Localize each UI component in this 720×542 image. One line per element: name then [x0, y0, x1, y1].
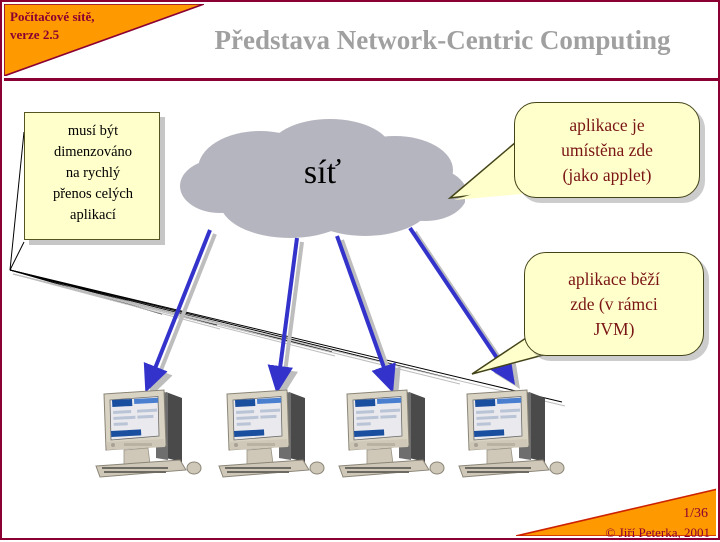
callout-jvm-line-3: JVM) [525, 317, 703, 342]
note-line-1: musí být [25, 121, 161, 142]
note-line-5: aplikací [25, 205, 161, 226]
callout-jvm-text: aplikace běží zde (v rámci JVM) [525, 253, 703, 355]
callout-jvm-line-2: zde (v rámci [525, 292, 703, 317]
desktop-computer-icon-2 [217, 384, 335, 484]
copyright-text: © Jiří Peterka, 2001 [606, 525, 710, 541]
computer-icon [217, 384, 335, 484]
callout-applet-line-2: umístěna zde [515, 138, 699, 163]
note-line-4: přenos celých [25, 184, 161, 205]
desktop-computer-icon-1 [94, 384, 212, 484]
computer-icon [337, 384, 455, 484]
cloud-label: síť [180, 154, 465, 192]
callout-bubble-applet: aplikace je umístěna zde (jako applet) [514, 102, 700, 198]
desktop-computer-icon-4 [457, 384, 575, 484]
note-box-text: musí být dimenzováno na rychlý přenos ce… [25, 121, 161, 226]
note-line-3: na rychlý [25, 163, 161, 184]
callout-applet-text: aplikace je umístěna zde (jako applet) [515, 103, 699, 197]
desktop-computer-icon-3 [337, 384, 455, 484]
slide-canvas: Počítačové sítě, verze 2.5 Představa Net… [0, 0, 720, 540]
computer-icon [94, 384, 212, 484]
callout-bubble-jvm: aplikace běží zde (v rámci JVM) [524, 252, 704, 356]
page-number: 1/36 [683, 506, 708, 522]
computer-icon [457, 384, 575, 484]
note-box-network-requirements: musí být dimenzováno na rychlý přenos ce… [24, 112, 160, 240]
callout-applet-line-1: aplikace je [515, 113, 699, 138]
callout-jvm-line-1: aplikace běží [525, 267, 703, 292]
note-line-2: dimenzováno [25, 142, 161, 163]
callout-applet-line-3: (jako applet) [515, 163, 699, 188]
